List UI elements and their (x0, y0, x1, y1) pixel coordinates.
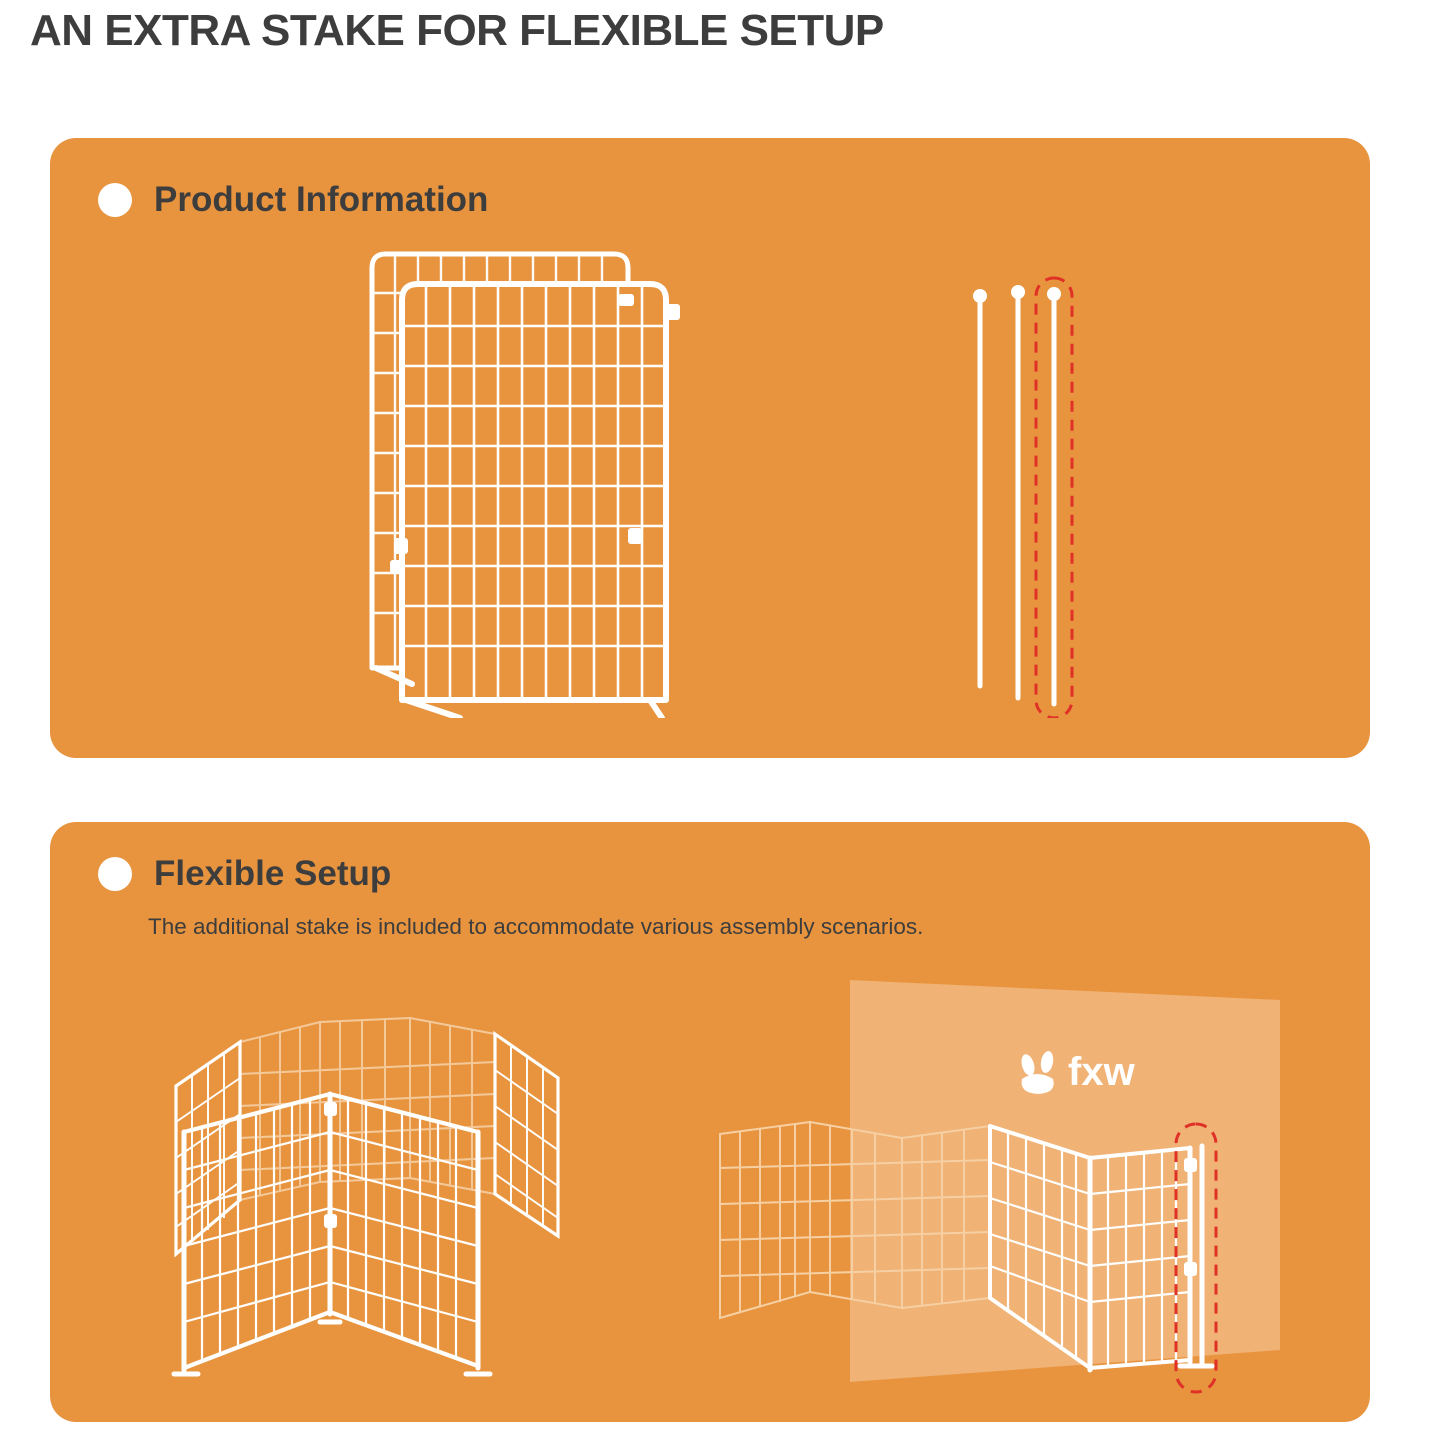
fence-panels-illustration (350, 238, 710, 723)
wall-surface (850, 980, 1280, 1382)
ground-stakes-illustration (950, 268, 1090, 723)
card-flexible-title: Flexible Setup (154, 854, 391, 894)
product-infographic: AN EXTRA STAKE FOR FLEXIBLE SETUP Produc… (0, 0, 1432, 1455)
card-product-title: Product Information (154, 180, 488, 220)
card-flexible-subtitle: The additional stake is included to acco… (148, 914, 923, 940)
bullet-dot-icon (98, 183, 132, 217)
octagon-playpen-illustration (140, 982, 610, 1407)
card-product-information: Product Information (50, 138, 1370, 758)
card-flexible-setup: Flexible Setup The additional stake is i… (50, 822, 1370, 1422)
page-title: AN EXTRA STAKE FOR FLEXIBLE SETUP (30, 6, 884, 56)
brand-wordmark: fxw (1068, 1050, 1136, 1094)
card-product-header: Product Information (98, 180, 488, 220)
playpen-against-wall-illustration: fxw (690, 962, 1330, 1407)
bullet-dot-icon (98, 857, 132, 891)
card-flexible-header: Flexible Setup (98, 854, 391, 894)
